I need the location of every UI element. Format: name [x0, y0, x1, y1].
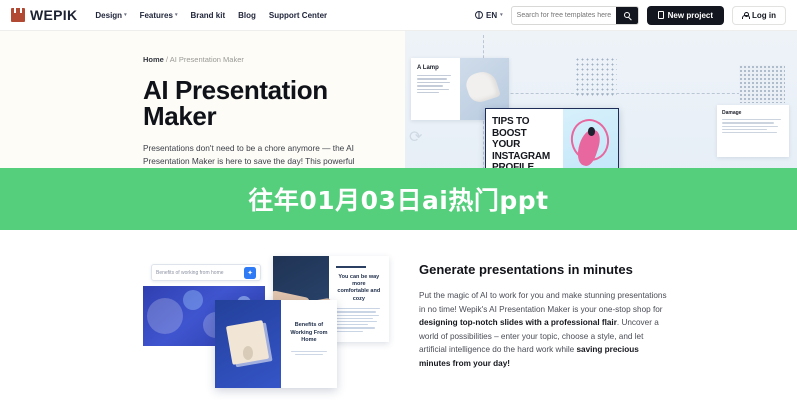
slide-card-damage[interactable]: Damage: [717, 105, 789, 157]
search-icon: [624, 12, 630, 18]
language-label: EN: [486, 11, 497, 20]
front-card-image: [215, 300, 281, 388]
logo[interactable]: WEPIK: [11, 7, 77, 23]
dot-pattern: [575, 57, 617, 97]
document-icon: [658, 11, 664, 19]
handshake-card-text: You can be way more comfortable and cozy: [329, 256, 389, 342]
breadcrumb: Home / AI Presentation Maker: [143, 55, 395, 64]
chevron-down-icon: ▾: [175, 13, 178, 18]
features-para-part1: Put the magic of AI to work for you and …: [419, 291, 667, 314]
ai-prompt-bar[interactable]: Benefits of working from home ✦: [151, 264, 261, 281]
lamp-card-lines: [417, 75, 454, 93]
site-header: WEPIK Design ▾ Features ▾ Brand kit Blog…: [0, 0, 797, 31]
features-para-bold1: designing top-notch slides with a profes…: [419, 318, 617, 327]
nav-item-blog[interactable]: Blog: [238, 11, 256, 20]
main-nav: Design ▾ Features ▾ Brand kit Blog Suppo…: [95, 11, 327, 20]
handshake-card-title: You can be way more comfortable and cozy: [336, 274, 382, 304]
overlay-title: 往年01月03日ai热门ppt: [248, 181, 548, 217]
texture-swatch: [739, 65, 785, 103]
chevron-down-icon: ▾: [500, 13, 503, 18]
instagram-card-title: TIPS TO BOOST YOUR INSTAGRAM PROFILE: [486, 109, 563, 177]
front-card-lines: [287, 351, 331, 355]
header-actions: EN ▾ New project Log in: [475, 6, 786, 25]
logo-text: WEPIK: [30, 7, 77, 23]
magic-wand-icon[interactable]: ✦: [244, 267, 256, 279]
features-heading: Generate presentations in minutes: [419, 262, 667, 277]
overlay-banner: 往年01月03日ai热门ppt: [0, 168, 797, 230]
damage-card-lines: [722, 119, 784, 133]
features-text: Generate presentations in minutes Put th…: [419, 248, 667, 371]
ai-prompt-value[interactable]: Benefits of working from home: [156, 270, 240, 276]
search-input[interactable]: [512, 7, 616, 24]
nav-item-brand-kit[interactable]: Brand kit: [190, 11, 225, 20]
front-card-text: Benefits of Working From Home: [281, 300, 337, 388]
features-paragraph: Put the magic of AI to work for you and …: [419, 289, 667, 371]
language-selector[interactable]: EN ▾: [475, 11, 503, 20]
figure-head-shape: [588, 127, 595, 135]
user-icon: [742, 12, 748, 19]
chevron-down-icon: ▾: [124, 13, 127, 18]
breadcrumb-home[interactable]: Home: [143, 55, 164, 64]
bubble-shape: [183, 290, 203, 310]
login-button[interactable]: Log in: [732, 6, 786, 25]
features-inner: Benefits of working from home ✦ You can …: [0, 248, 797, 388]
breadcrumb-current: AI Presentation Maker: [170, 55, 244, 64]
login-label: Log in: [752, 11, 776, 20]
slides-mockup: Benefits of working from home ✦ You can …: [143, 248, 393, 388]
search-button[interactable]: [616, 7, 638, 24]
front-card-title: Benefits of Working From Home: [287, 322, 331, 345]
lamp-card-text: A Lamp: [411, 58, 460, 120]
search-box: [511, 6, 639, 25]
page-title: AI Presentation Maker: [143, 77, 395, 129]
divider: [336, 266, 366, 268]
squiggle-decoration: ⟳: [409, 127, 422, 147]
nav-label: Design: [95, 11, 122, 20]
nav-item-support-center[interactable]: Support Center: [269, 11, 327, 20]
wepik-logo-icon: [11, 8, 25, 22]
lamp-card-title: A Lamp: [417, 65, 454, 71]
handshake-card-lines: [336, 308, 382, 332]
new-project-button[interactable]: New project: [647, 6, 724, 25]
slide-card-front[interactable]: Benefits of Working From Home: [215, 300, 337, 388]
globe-icon: [475, 11, 483, 19]
bubble-shape: [147, 298, 183, 334]
damage-card-title: Damage: [722, 110, 784, 116]
new-project-label: New project: [668, 11, 713, 20]
nav-item-design[interactable]: Design ▾: [95, 11, 126, 20]
cup-shape: [243, 346, 254, 360]
features-section: Benefits of working from home ✦ You can …: [0, 230, 797, 400]
nav-item-features[interactable]: Features ▾: [140, 11, 178, 20]
nav-label: Features: [140, 11, 173, 20]
instagram-card-image: [563, 109, 618, 177]
